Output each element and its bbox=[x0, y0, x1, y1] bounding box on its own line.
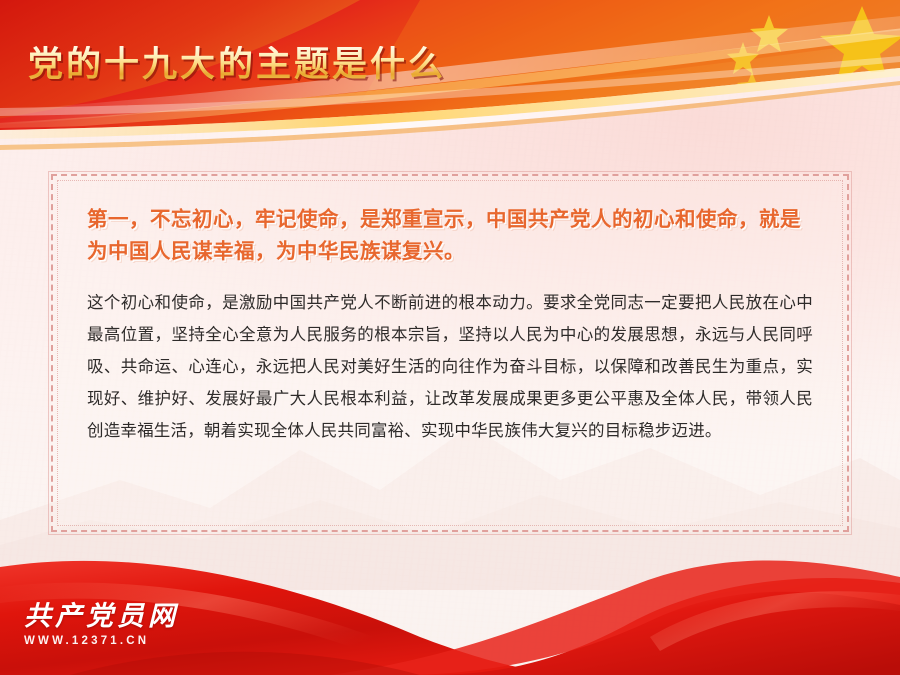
site-logo-text: 共产党员网 bbox=[24, 603, 179, 630]
header-banner: 党的十九大的主题是什么 bbox=[0, 0, 900, 160]
site-logo: 共产党员网 WWW.12371.CN bbox=[24, 603, 179, 647]
footer-ribbon: 共产党员网 WWW.12371.CN bbox=[0, 525, 900, 675]
content-card: 第一，不忘初心，牢记使命，是郑重宣示，中国共产党人的初心和使命，就是为中国人民谋… bbox=[51, 174, 849, 532]
lead-paragraph: 第一，不忘初心，牢记使命，是郑重宣示，中国共产党人的初心和使命，就是为中国人民谋… bbox=[87, 204, 813, 269]
site-logo-url: WWW.12371.CN bbox=[24, 635, 179, 647]
page-title-wrap: 党的十九大的主题是什么 bbox=[28, 46, 446, 85]
body-paragraph: 这个初心和使命，是激励中国共产党人不断前进的根本动力。要求全党同志一定要把人民放… bbox=[87, 287, 813, 448]
page-title: 党的十九大的主题是什么 bbox=[28, 46, 446, 85]
slide-root: 党的十九大的主题是什么 第一，不忘初心，牢记使命，是郑重宣示，中国共产党人的初心… bbox=[0, 0, 900, 675]
